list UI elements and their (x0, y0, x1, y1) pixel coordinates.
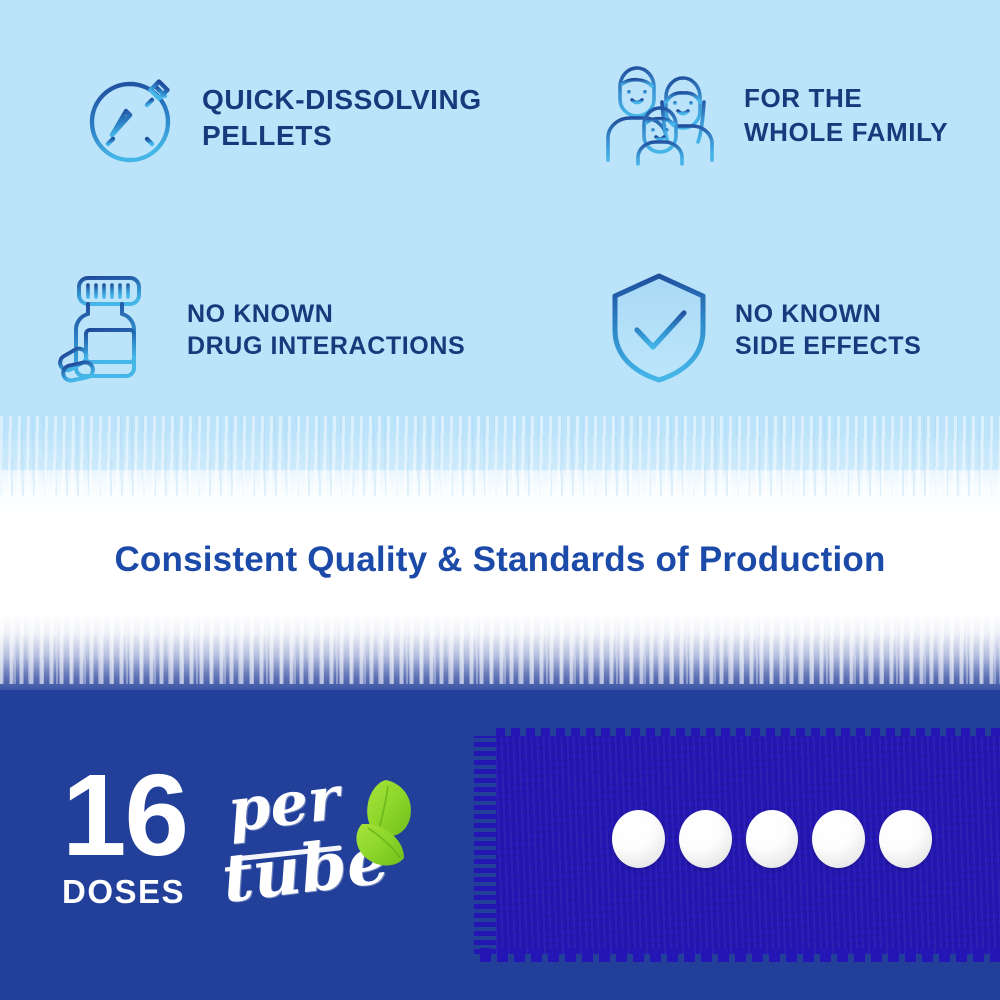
feature-for-the-whole-family: FOR THE WHOLE FAMILY (600, 52, 948, 179)
feature-grid: QUICK-DISSOLVING PELLETS (0, 0, 1000, 420)
feature-label: FOR THE WHOLE FAMILY (744, 82, 948, 149)
pellet-row (612, 810, 932, 874)
dose-count: 16 (62, 762, 187, 869)
feature-label: QUICK-DISSOLVING PELLETS (202, 82, 482, 154)
dose-unit-label: DOSES (62, 873, 187, 911)
feature-no-known-drug-interactions: NO KNOWN DRUG INTERACTIONS (55, 268, 465, 391)
feature-no-known-side-effects: NO KNOWN SIDE EFFECTS (605, 268, 921, 391)
pellet-sphere-icon (612, 810, 665, 868)
feature-quick-dissolving-pellets: QUICK-DISSOLVING PELLETS (60, 55, 482, 180)
page-headline: Consistent Quality & Standards of Produc… (0, 540, 1000, 580)
brush-edge-top (0, 410, 1000, 525)
dose-callout: 16 DOSES (62, 762, 187, 911)
feature-label: NO KNOWN DRUG INTERACTIONS (187, 298, 465, 362)
stopwatch-icon (60, 55, 180, 180)
per-tube-script: per tube (222, 768, 412, 918)
shield-check-icon (605, 268, 713, 391)
paint-swatch-bottom-edge (480, 948, 1000, 962)
pellet-sphere-icon (812, 810, 865, 868)
feature-label: NO KNOWN SIDE EFFECTS (735, 298, 921, 362)
pill-bottle-icon (55, 268, 167, 391)
mint-leaf-icon (334, 774, 424, 874)
pellet-sphere-icon (746, 810, 799, 868)
pellet-sphere-icon (679, 810, 732, 868)
family-icon (600, 52, 722, 179)
infographic-page: QUICK-DISSOLVING PELLETS (0, 0, 1000, 1000)
pellet-sphere-icon (879, 810, 932, 868)
